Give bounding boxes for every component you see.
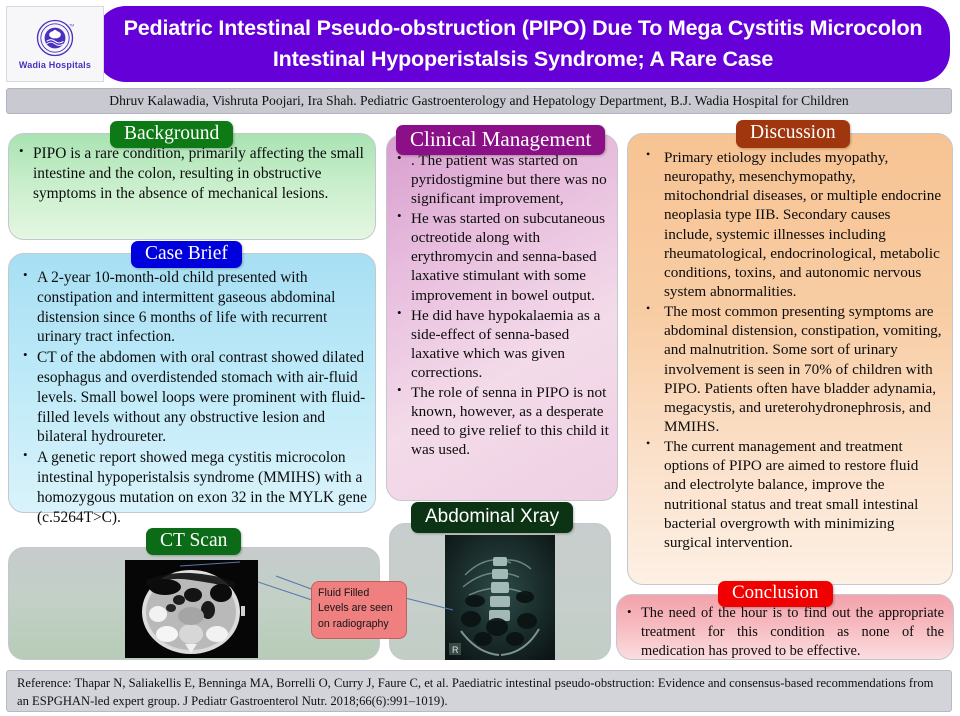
section-header-background: Background: [110, 121, 233, 148]
list-item: . The patient was started on pyridostigm…: [395, 151, 609, 208]
institution-logo-label: Wadia Hospitals: [19, 60, 91, 70]
panel-clinical-management-body: . The patient was started on pyridostigm…: [387, 135, 617, 466]
list-item: CT of the abdomen with oral contrast sho…: [21, 348, 367, 447]
panel-case-brief: A 2-year 10-month-old child presented wi…: [8, 253, 376, 513]
section-header-discussion: Discussion: [736, 120, 850, 148]
list-item: He was started on subcutaneous octreotid…: [395, 209, 609, 304]
panel-clinical-management: . The patient was started on pyridostigm…: [386, 134, 618, 501]
section-header-abdominal-xray-label: Abdominal Xray: [425, 506, 559, 528]
page-title: Pediatric Intestinal Pseudo-obstruction …: [96, 13, 950, 74]
list-item: The need of the hour is to find out the …: [625, 604, 944, 661]
panel-discussion-body: Primary etiology includes myopathy, neur…: [628, 134, 952, 559]
case-brief-bullet-list: A 2-year 10-month-old child presented wi…: [21, 268, 367, 527]
clinical-management-bullet-list: . The patient was started on pyridostigm…: [395, 151, 609, 459]
discussion-bullet-list: Primary etiology includes myopathy, neur…: [638, 148, 942, 552]
list-item: A 2-year 10-month-old child presented wi…: [21, 268, 367, 347]
list-item: PIPO is a rare condition, primarily affe…: [17, 144, 365, 204]
fluid-levels-callout-text: Fluid Filled Levels are seen on radiogra…: [318, 587, 393, 630]
section-header-conclusion: Conclusion: [718, 581, 833, 607]
ct-scan-image: [125, 560, 258, 658]
xray-side-marker: R: [452, 645, 459, 655]
hospital-crest-logo-icon: TM: [35, 18, 75, 58]
background-bullet-list: PIPO is a rare condition, primarily affe…: [17, 144, 365, 204]
list-item: Primary etiology includes myopathy, neur…: [638, 148, 942, 301]
fluid-levels-callout: Fluid Filled Levels are seen on radiogra…: [311, 581, 407, 639]
section-header-case-brief: Case Brief: [131, 241, 242, 268]
section-header-ct-scan-label: CT Scan: [160, 530, 227, 552]
list-item: The current management and treatment opt…: [638, 437, 942, 552]
section-header-case-brief-label: Case Brief: [145, 243, 228, 265]
abdominal-xray-image: R: [445, 535, 555, 660]
list-item: He did have hypokalaemia as a side-effec…: [395, 306, 609, 382]
list-item: A genetic report showed mega cystitis mi…: [21, 448, 367, 527]
panel-case-brief-body: A 2-year 10-month-old child presented wi…: [9, 254, 375, 534]
reference-text: Reference: Thapar N, Saliakellis E, Benn…: [17, 676, 933, 708]
section-header-ct-scan: CT Scan: [146, 528, 241, 555]
section-header-abdominal-xray: Abdominal Xray: [411, 502, 573, 533]
conclusion-bullet-list: The need of the hour is to find out the …: [625, 604, 944, 661]
list-item: The most common presenting symptoms are …: [638, 302, 942, 436]
poster-title-bar: Pediatric Intestinal Pseudo-obstruction …: [96, 6, 950, 82]
reference-footer: Reference: Thapar N, Saliakellis E, Benn…: [6, 670, 952, 712]
list-item: The role of senna in PIPO is not known, …: [395, 383, 609, 459]
section-header-clinical-management: Clinical Management: [396, 125, 605, 155]
section-header-background-label: Background: [124, 123, 219, 145]
section-header-conclusion-label: Conclusion: [732, 582, 819, 604]
author-affiliation-bar: Dhruv Kalawadia, Vishruta Poojari, Ira S…: [6, 88, 952, 114]
section-header-discussion-label: Discussion: [750, 122, 836, 144]
institution-logo: TM Wadia Hospitals: [6, 6, 104, 82]
poster-canvas: TM Wadia Hospitals Pediatric Intestinal …: [0, 0, 960, 716]
section-header-clinical-management-label: Clinical Management: [410, 127, 591, 152]
author-list: Dhruv Kalawadia, Vishruta Poojari, Ira S…: [109, 93, 848, 109]
panel-background: PIPO is a rare condition, primarily affe…: [8, 133, 376, 240]
svg-text:TM: TM: [69, 23, 74, 27]
panel-discussion: Primary etiology includes myopathy, neur…: [627, 133, 953, 585]
